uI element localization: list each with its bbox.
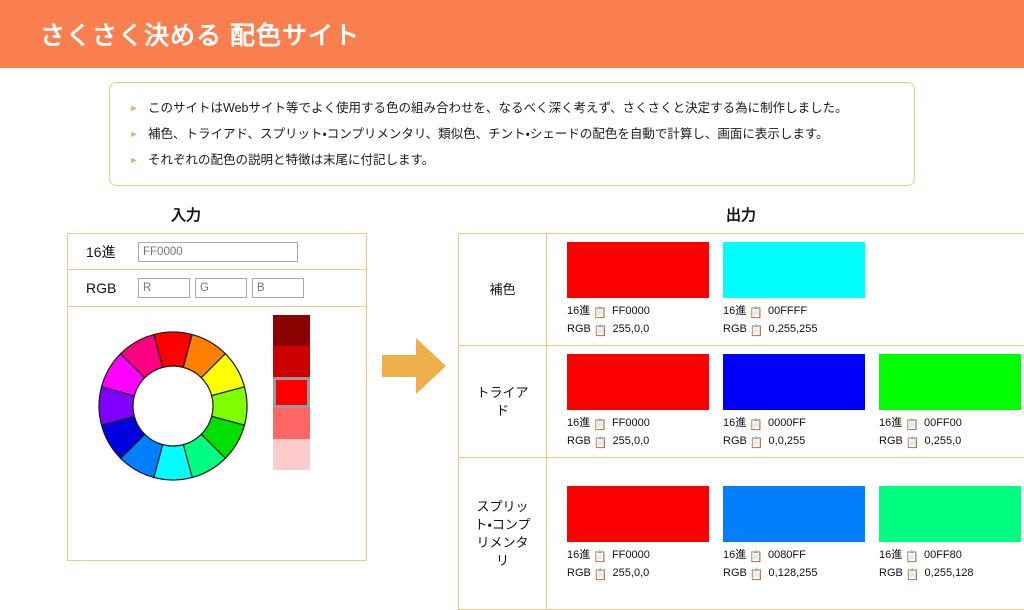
main-content: 入力 16進 RGB (0, 205, 1024, 576)
copy-icon[interactable]: 📋 (749, 305, 763, 321)
copy-icon[interactable]: 📋 (594, 435, 608, 451)
color-wheel-icon[interactable] (97, 330, 249, 482)
color-card: 16進📋00FFFF RGB📋0,255,255 (723, 242, 865, 339)
rgb-r-input[interactable] (138, 278, 190, 298)
hex-value: 00FF00 (924, 417, 962, 429)
rgb-value: 0,128,255 (769, 567, 818, 579)
rgb-value: 0,255,128 (925, 567, 974, 579)
hex-label: 16進 (879, 547, 902, 563)
color-card: 16進📋FF0000 RGB📋255,0,0 (567, 354, 709, 451)
color-meta: 16進📋FF0000 RGB📋255,0,0 (567, 547, 709, 583)
description-text: それぞれの配色の説明と特徴は末尾に付記します。 (148, 147, 434, 173)
shade-strip-icon[interactable] (273, 315, 310, 470)
copy-icon[interactable]: 📋 (906, 435, 920, 451)
copy-icon[interactable]: 📋 (750, 435, 764, 451)
rgb-input-row: RGB (68, 270, 366, 306)
color-meta: 16進📋FF0000 RGB📋255,0,0 (567, 303, 709, 339)
hex-value: 00FF80 (924, 549, 962, 561)
shade-swatch[interactable] (273, 315, 310, 346)
copy-icon[interactable]: 📋 (593, 305, 607, 321)
rgb-label: RGB (567, 433, 591, 449)
rgb-label: RGB (723, 321, 747, 337)
hex-label: 16進 (723, 547, 746, 563)
color-chip[interactable] (723, 486, 865, 542)
hex-input-row: 16進 (68, 234, 366, 270)
hex-label: 16進 (723, 415, 746, 431)
color-card: 16進📋FF0000 RGB📋255,0,0 (567, 242, 709, 339)
table-row: 補色 16進📋FF0000 RGB📋255,0,0 (459, 234, 1024, 346)
color-picker-panel (67, 307, 367, 561)
rgb-value: 255,0,0 (613, 323, 650, 335)
copy-icon[interactable]: 📋 (749, 549, 763, 565)
color-chip[interactable] (879, 486, 1021, 542)
rgb-label: RGB (86, 280, 138, 296)
rgb-value: 0,0,255 (769, 435, 806, 447)
color-chip[interactable] (723, 242, 865, 298)
hex-value: 0080FF (768, 549, 806, 561)
hex-label: 16進 (567, 547, 590, 563)
rgb-label: RGB (879, 565, 903, 581)
table-row: スプリット・コンプリメンタリ 16進📋FF0000 RGB📋255,0,0 (459, 458, 1024, 610)
color-meta: 16進📋0000FF RGB📋0,0,255 (723, 415, 865, 451)
triangle-right-icon: ► (128, 95, 140, 121)
output-section-title: 出力 (458, 205, 1024, 233)
triangle-right-icon: ► (128, 147, 140, 173)
color-card: 16進📋0000FF RGB📋0,0,255 (723, 354, 865, 451)
color-card: 16進📋00FF80 RGB📋0,255,128 (879, 486, 1021, 583)
color-card: 16進📋00FF00 RGB📋0,255,0 (879, 354, 1021, 451)
row-label: トライアド (459, 346, 547, 458)
hex-value: 0000FF (768, 417, 806, 429)
description-line: ► 補色、トライアド、スプリット・コンプリメンタリ、類似色、チント・シェードの配… (128, 121, 896, 147)
arrow-right-icon (380, 335, 448, 397)
table-row: トライアド 16進📋FF0000 RGB📋255,0,0 (459, 346, 1024, 458)
row-swatches: 16進📋FF0000 RGB📋255,0,0 16進📋00FFFF RGB📋0,… (547, 234, 1024, 346)
shade-swatch[interactable] (273, 439, 310, 470)
hex-value: 00FFFF (768, 305, 807, 317)
copy-icon[interactable]: 📋 (905, 417, 919, 433)
color-card: 16進📋FF0000 RGB📋255,0,0 (567, 486, 709, 583)
output-column: 出力 補色 16進📋FF0000 RGB📋255,0,0 (458, 205, 1024, 576)
rgb-value: 255,0,0 (613, 567, 650, 579)
description-line: ► それぞれの配色の説明と特徴は末尾に付記します。 (128, 147, 896, 173)
row-swatches: 16進📋FF0000 RGB📋255,0,0 16進📋0080FF RGB📋0,… (547, 458, 1024, 610)
color-chip[interactable] (567, 242, 709, 298)
page-title: さくさく決める 配色サイト (40, 16, 360, 52)
hex-label: 16進 (723, 303, 746, 319)
color-card: 16進📋0080FF RGB📋0,128,255 (723, 486, 865, 583)
color-meta: 16進📋0080FF RGB📋0,128,255 (723, 547, 865, 583)
color-meta: 16進📋00FF80 RGB📋0,255,128 (879, 547, 1021, 583)
copy-icon[interactable]: 📋 (594, 567, 608, 583)
rgb-value: 0,255,255 (769, 323, 818, 335)
description-text: 補色、トライアド、スプリット・コンプリメンタリ、類似色、チント・シェードの配色を… (148, 121, 829, 147)
copy-icon[interactable]: 📋 (593, 417, 607, 433)
rgb-label: RGB (723, 565, 747, 581)
row-label: スプリット・コンプリメンタリ (459, 458, 547, 610)
triangle-right-icon: ► (128, 121, 140, 147)
app-header: さくさく決める 配色サイト (0, 0, 1024, 68)
copy-icon[interactable]: 📋 (593, 549, 607, 565)
output-table: 補色 16進📋FF0000 RGB📋255,0,0 (458, 233, 1024, 610)
hex-value: FF0000 (612, 305, 650, 317)
color-meta: 16進📋00FF00 RGB📋0,255,0 (879, 415, 1021, 451)
shade-swatch-selected[interactable] (273, 377, 310, 408)
hex-label: 16進 (567, 415, 590, 431)
description-text: このサイトはWebサイト等でよく使用する色の組み合わせを、なるべく深く考えず、さ… (148, 95, 848, 121)
row-label: 補色 (459, 234, 547, 346)
rgb-label: RGB (567, 321, 591, 337)
color-chip[interactable] (879, 354, 1021, 410)
rgb-label: RGB (723, 433, 747, 449)
input-panel: 16進 RGB (67, 233, 367, 307)
rgb-b-input[interactable] (252, 278, 304, 298)
color-meta: 16進📋00FFFF RGB📋0,255,255 (723, 303, 865, 339)
copy-icon[interactable]: 📋 (750, 567, 764, 583)
hex-value: FF0000 (612, 549, 650, 561)
hex-label: 16進 (879, 415, 902, 431)
rgb-g-input[interactable] (195, 278, 247, 298)
row-swatches: 16進📋FF0000 RGB📋255,0,0 16進📋0000FF RGB📋0,… (547, 346, 1024, 458)
color-meta: 16進📋FF0000 RGB📋255,0,0 (567, 415, 709, 451)
description-line: ► このサイトはWebサイト等でよく使用する色の組み合わせを、なるべく深く考えず… (128, 95, 896, 121)
rgb-value: 0,255,0 (925, 435, 962, 447)
color-chip[interactable] (567, 354, 709, 410)
hex-input[interactable] (138, 242, 298, 262)
hex-value: FF0000 (612, 417, 650, 429)
color-chip[interactable] (723, 354, 865, 410)
rgb-value: 255,0,0 (613, 435, 650, 447)
description-box: ► このサイトはWebサイト等でよく使用する色の組み合わせを、なるべく深く考えず… (109, 82, 915, 186)
rgb-label: RGB (879, 433, 903, 449)
copy-icon[interactable]: 📋 (749, 417, 763, 433)
shade-swatch[interactable] (273, 408, 310, 439)
hex-label: 16進 (86, 242, 138, 262)
copy-icon[interactable]: 📋 (906, 567, 920, 583)
input-column: 入力 16進 RGB (0, 205, 372, 576)
copy-icon[interactable]: 📋 (594, 323, 608, 339)
shade-swatch[interactable] (273, 346, 310, 377)
description-section: ► このサイトはWebサイト等でよく使用する色の組み合わせを、なるべく深く考えず… (0, 68, 1024, 186)
hex-label: 16進 (567, 303, 590, 319)
rgb-label: RGB (567, 565, 591, 581)
copy-icon[interactable]: 📋 (905, 549, 919, 565)
copy-icon[interactable]: 📋 (750, 323, 764, 339)
arrow-column (372, 205, 458, 576)
color-chip[interactable] (567, 486, 709, 542)
input-section-title: 入力 (0, 205, 372, 233)
